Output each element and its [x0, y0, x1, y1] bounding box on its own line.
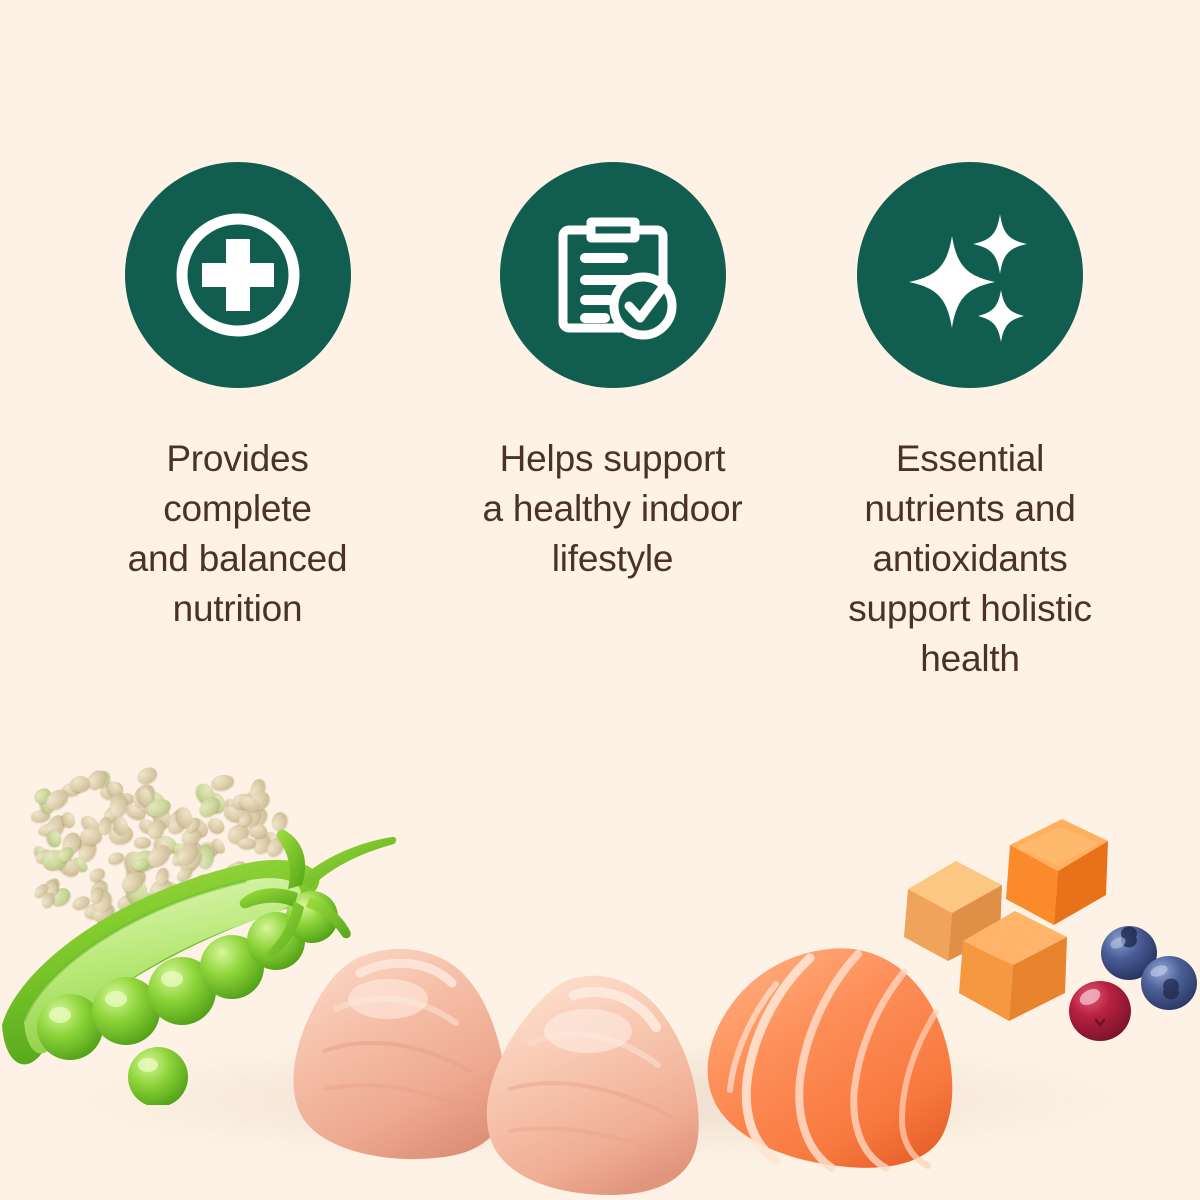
benefit-item-1: Provides complete and balanced nutrition: [55, 162, 420, 634]
sweet-potato-cube-2: [955, 905, 1075, 1030]
benefit-text-3: Essential nutrients and antioxidants sup…: [790, 434, 1150, 684]
benefit-icon-circle-1: [125, 162, 351, 388]
benefit-item-3: Essential nutrients and antioxidants sup…: [790, 162, 1150, 684]
product-benefits-panel: Provides complete and balanced nutrition: [0, 0, 1200, 1200]
benefit-text-2: Helps support a healthy indoor lifestyle: [425, 434, 800, 584]
salmon-fillet: [690, 942, 990, 1172]
benefit-item-2: Helps support a healthy indoor lifestyle: [425, 162, 800, 584]
benefits-row: Provides complete and balanced nutrition: [0, 0, 1200, 700]
benefit-text-1: Provides complete and balanced nutrition: [55, 434, 420, 634]
clipboard-checklist-check-icon: [543, 202, 683, 348]
cranberry: [1068, 980, 1132, 1042]
blueberry-2: [1140, 955, 1198, 1011]
benefit-icon-circle-2: [500, 162, 726, 388]
lentil-seed: [70, 776, 90, 793]
medical-cross-in-circle-icon: [168, 205, 308, 345]
lentil-seed: [210, 773, 236, 793]
sparkles-icon: [895, 200, 1045, 350]
benefit-icon-circle-3: [857, 162, 1083, 388]
ingredient-photo-band: [0, 740, 1200, 1200]
